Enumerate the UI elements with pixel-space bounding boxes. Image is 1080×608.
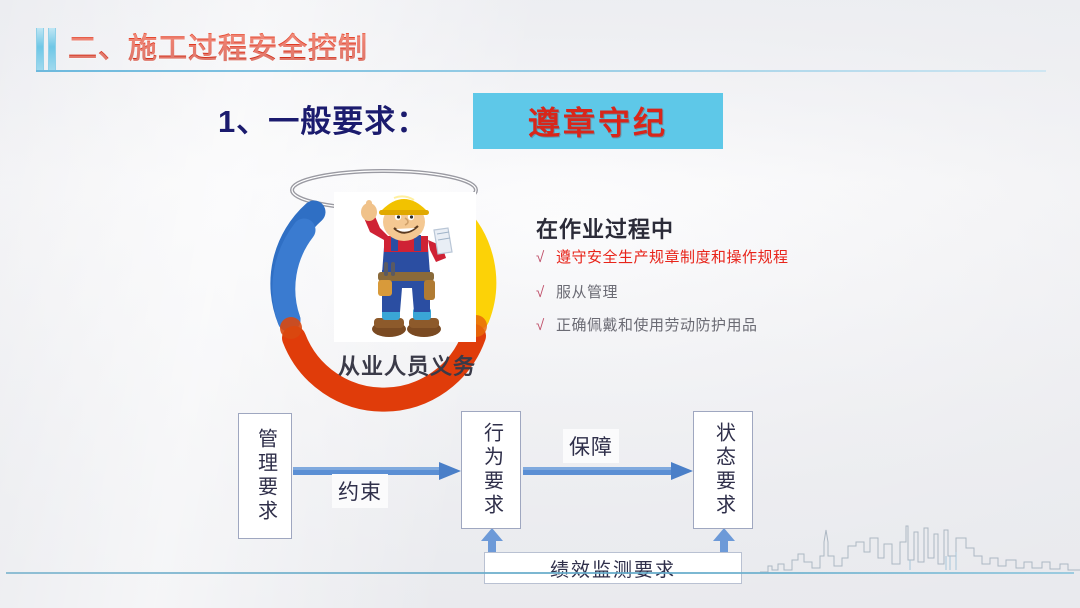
list-item-label: 服从管理 xyxy=(556,283,618,302)
slide-header: 二、施工过程安全控制 xyxy=(0,26,1080,72)
list-item: √ 正确佩戴和使用劳动防护用品 xyxy=(536,316,866,335)
header-divider xyxy=(36,70,1046,72)
list-item: √ 遵守安全生产规章制度和操作规程 xyxy=(536,248,866,267)
construction-worker-icon xyxy=(334,192,476,342)
flow-box-behavior: 行为要求 xyxy=(461,411,521,529)
flow-box-monitoring-label: 绩效监测要求 xyxy=(550,555,676,582)
check-icon: √ xyxy=(536,318,556,333)
flow-box-state-label: 状态要求 xyxy=(710,422,737,518)
slide-canvas: 二、施工过程安全控制 1、一般要求： 遵章守纪 xyxy=(0,0,1080,608)
arrow-guarantee-icon xyxy=(523,461,695,481)
flow-box-behavior-label: 行为要求 xyxy=(478,422,505,518)
requirements-list: √ 遵守安全生产规章制度和操作规程 √ 服从管理 √ 正确佩戴和使用劳动防护用品 xyxy=(536,248,866,349)
city-skyline-icon xyxy=(760,512,1080,574)
requirements-heading: 在作业过程中 xyxy=(536,212,674,244)
flow-box-manage-label: 管理要求 xyxy=(252,428,279,524)
page-title: 二、施工过程安全控制 xyxy=(68,25,368,67)
list-item: √ 服从管理 xyxy=(536,283,866,302)
horizon-line xyxy=(6,572,1074,574)
flow-box-manage: 管理要求 xyxy=(238,413,292,539)
check-icon: √ xyxy=(536,250,556,265)
arrow-label-guarantee: 保障 xyxy=(563,429,619,463)
list-item-label: 遵守安全生产规章制度和操作规程 xyxy=(556,248,789,267)
section-subtitle: 1、一般要求： xyxy=(218,96,428,141)
check-icon: √ xyxy=(536,285,556,300)
flow-box-monitoring: 绩效监测要求 xyxy=(484,552,742,584)
header-accent-bars-icon xyxy=(36,28,58,70)
flow-box-state: 状态要求 xyxy=(693,411,753,529)
highlight-badge-label: 遵章守纪 xyxy=(528,98,668,144)
highlight-badge: 遵章守纪 xyxy=(473,93,723,149)
list-item-label: 正确佩戴和使用劳动防护用品 xyxy=(556,316,758,335)
arrow-label-constraint: 约束 xyxy=(332,474,388,508)
donut-label: 从业人员义务 xyxy=(338,349,476,381)
